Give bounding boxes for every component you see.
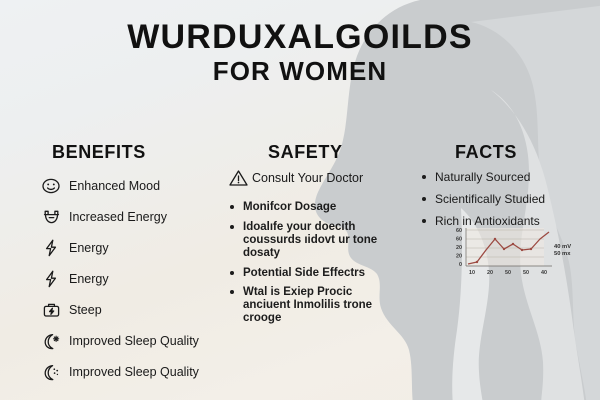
bullet-line: anciuent Inmolilis trone	[243, 299, 408, 312]
list-item: Increased Energy	[36, 201, 246, 232]
list-item-label: Energy	[66, 241, 109, 255]
list-item-label: Improved Sleep Quality	[66, 334, 199, 348]
y-tick: 0	[459, 262, 462, 268]
list-item: Potential Side Effectrs	[228, 267, 408, 280]
list-item: Wtal is Exiep Procic anciuent Inmolilis …	[228, 286, 408, 325]
list-item-label: Improved Sleep Quality	[66, 365, 199, 379]
lightning-bolt-icon	[36, 267, 66, 291]
chart-legend: 40 mV 50 mx	[554, 244, 571, 257]
list-item: Enhanced Mood	[36, 170, 246, 201]
x-tick: 50	[523, 270, 529, 276]
heading-safety: SAFETY	[268, 142, 343, 163]
x-tick: 10	[469, 270, 475, 276]
chart-y-tick-labels: 60 60 20 20 0	[456, 228, 462, 268]
bullet-line: Potential Side Effectrs	[243, 267, 408, 280]
bullet-line: Monifcor Dosage	[243, 201, 408, 214]
list-item-label: Increased Energy	[66, 210, 167, 224]
list-item: Idoalıfe your doecith coussurds ıidovt u…	[228, 221, 408, 260]
lightning-bolt-icon	[36, 236, 66, 260]
consult-callout: Consult Your Doctor	[228, 168, 408, 192]
benefits-list: Enhanced Mood Increased Energy Energ	[36, 170, 246, 387]
facts-bullet-list: Naturally Sourced Scientifically Studied…	[420, 170, 595, 228]
infographic-poster: WURDUXALGOILDS FOR WOMEN BENEFITS SAFETY…	[0, 0, 600, 400]
legend-entry: 40 mV	[554, 244, 571, 250]
y-tick: 20	[456, 254, 462, 260]
safety-block: Consult Your Doctor Monifcor Dosage Idoa…	[228, 168, 408, 332]
list-item-label: Energy	[66, 272, 109, 286]
list-item: Energy	[36, 263, 246, 294]
list-item-label: Steep	[66, 303, 102, 317]
list-item: Energy	[36, 232, 246, 263]
list-item: Naturally Sourced	[420, 170, 595, 184]
heading-facts: FACTS	[455, 142, 517, 163]
consult-label: Consult Your Doctor	[252, 168, 363, 185]
bullet-line: Wtal is Exiep Procic	[243, 286, 408, 299]
bullet-line: dosaty	[243, 247, 408, 260]
x-tick: 50	[505, 270, 511, 276]
moon-star-icon	[36, 329, 66, 353]
list-item-label: Enhanced Mood	[66, 179, 160, 193]
chart-x-tick-labels: 10 20 50 50 40	[469, 270, 547, 276]
x-tick: 20	[487, 270, 493, 276]
y-tick: 60	[456, 228, 462, 234]
title-block: WURDUXALGOILDS FOR WOMEN	[0, 20, 600, 86]
y-tick: 60	[456, 237, 462, 243]
battery-bolt-icon	[36, 298, 66, 322]
smiley-face-icon	[36, 174, 66, 198]
page-title: WURDUXALGOILDS	[0, 20, 600, 55]
distorted-face-icon	[36, 205, 66, 229]
list-item: Scientifically Studied	[420, 192, 595, 206]
moon-dots-icon	[36, 360, 66, 384]
list-item: Improved Sleep Quality	[36, 356, 246, 387]
bullet-line: coussurds ıidovt ur tone	[243, 234, 408, 247]
page-subtitle: FOR WOMEN	[0, 57, 600, 86]
list-item: Steep	[36, 294, 246, 325]
warning-triangle-icon	[228, 168, 252, 192]
safety-bullet-list: Monifcor Dosage Idoalıfe your doecith co…	[228, 201, 408, 325]
bullet-line: crooge	[243, 312, 408, 325]
x-tick: 40	[541, 270, 547, 276]
heading-benefits: BENEFITS	[52, 142, 146, 163]
list-item: Improved Sleep Quality	[36, 325, 246, 356]
legend-entry: 50 mx	[554, 251, 571, 257]
list-item: Monifcor Dosage	[228, 201, 408, 214]
y-tick: 20	[456, 245, 462, 251]
bullet-line: Idoalıfe your doecith	[243, 221, 408, 234]
mini-line-chart: 60 60 20 20 0 10 20 50 50 40 40 mV 50 mx	[440, 226, 595, 282]
